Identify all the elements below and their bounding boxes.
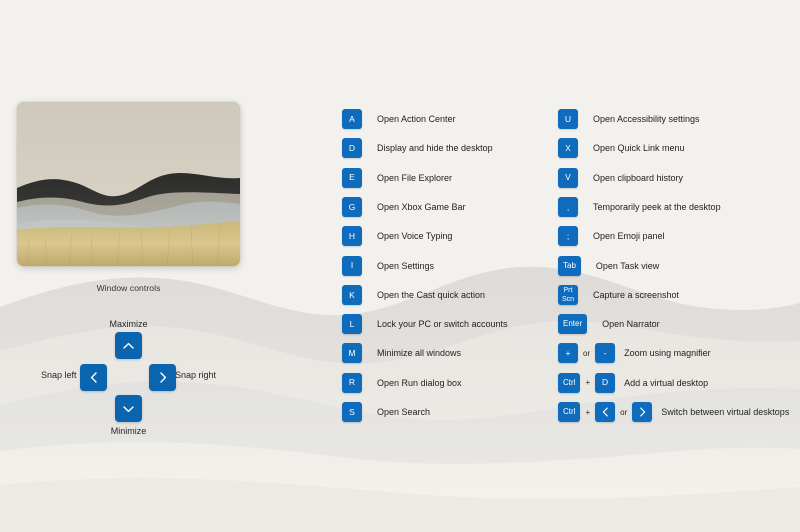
arrow-down-key[interactable] — [115, 395, 142, 422]
shortcut-description: Capture a screenshot — [578, 290, 679, 300]
print-screen-key[interactable]: PrtScn — [558, 285, 578, 305]
arrow-up-key[interactable] — [115, 332, 142, 359]
shortcut-description: Lock your PC or switch accounts — [362, 319, 508, 329]
shortcut-description: Display and hide the desktop — [362, 143, 493, 153]
key-ctrl[interactable]: Ctrl — [558, 402, 580, 422]
key-ctrl[interactable]: Ctrl — [558, 373, 580, 393]
arrow-right-key[interactable] — [149, 364, 176, 391]
shortcut-row: +or-Zoom using magnifier — [558, 343, 711, 363]
minimize-label: Minimize — [0, 426, 257, 436]
key-tab[interactable]: Tab — [558, 256, 581, 276]
shortcut-description: Open Emoji panel — [578, 231, 665, 241]
shortcut-row: AOpen Action Center — [342, 109, 456, 129]
key-minus[interactable]: - — [595, 343, 615, 363]
shortcut-row: GOpen Xbox Game Bar — [342, 197, 466, 217]
key-e[interactable]: E — [342, 168, 362, 188]
key-joiner-plus: + — [580, 378, 595, 387]
key-m[interactable]: M — [342, 343, 362, 363]
shortcut-row: DDisplay and hide the desktop — [342, 138, 493, 158]
key-h[interactable]: H — [342, 226, 362, 246]
chevron-right-icon — [159, 372, 167, 383]
shortcut-description: Switch between virtual desktops — [652, 407, 789, 417]
key-semicolon[interactable]: ; — [558, 226, 578, 246]
key-r[interactable]: R — [342, 373, 362, 393]
shortcut-description: Open Xbox Game Bar — [362, 202, 466, 212]
shortcut-description: Open clipboard history — [578, 173, 683, 183]
window-controls-diagram: Window controls Maximize Minimize — [0, 283, 257, 438]
shortcut-row: UOpen Accessibility settings — [558, 109, 700, 129]
shortcut-description: Open Action Center — [362, 114, 456, 124]
window-controls-title: Window controls — [0, 283, 257, 293]
chevron-down-icon — [123, 405, 134, 413]
key-joiner-plus: + — [580, 408, 595, 417]
shortcut-row: ,Temporarily peek at the desktop — [558, 197, 721, 217]
snap-left-label: Snap left — [41, 370, 77, 380]
shortcut-row: Ctrl+orSwitch between virtual desktops — [558, 402, 789, 422]
shortcut-reference-screen: Window controls Maximize Minimize Snap l… — [0, 0, 800, 532]
key-joiner-or: or — [615, 408, 632, 417]
key-enter[interactable]: Enter — [558, 314, 587, 334]
shortcut-description: Open Run dialog box — [362, 378, 462, 388]
shortcut-row: EOpen File Explorer — [342, 168, 452, 188]
key-d[interactable]: D — [342, 138, 362, 158]
wallpaper-preview-card[interactable] — [17, 102, 240, 266]
shortcut-description: Open Quick Link menu — [578, 143, 685, 153]
shortcut-row: ;Open Emoji panel — [558, 226, 665, 246]
shortcut-row: PrtScnCapture a screenshot — [558, 285, 679, 305]
shortcut-description: Open the Cast quick action — [362, 290, 485, 300]
key-x[interactable]: X — [558, 138, 578, 158]
key-joiner-or: or — [578, 349, 595, 358]
shortcut-row: MMinimize all windows — [342, 343, 461, 363]
shortcut-row: Ctrl+DAdd a virtual desktop — [558, 373, 708, 393]
chevron-left-key[interactable] — [595, 402, 615, 422]
shortcut-row: TabOpen Task view — [558, 256, 659, 276]
shortcut-description: Add a virtual desktop — [615, 378, 708, 388]
shortcut-description: Open Search — [362, 407, 430, 417]
shortcut-row: ROpen Run dialog box — [342, 373, 462, 393]
shortcut-row: IOpen Settings — [342, 256, 434, 276]
key-comma[interactable]: , — [558, 197, 578, 217]
chevron-up-icon — [123, 342, 134, 350]
arrow-left-key[interactable] — [80, 364, 107, 391]
shortcut-description: Open Narrator — [587, 319, 660, 329]
shortcut-row: KOpen the Cast quick action — [342, 285, 485, 305]
key-i[interactable]: I — [342, 256, 362, 276]
shortcut-description: Open File Explorer — [362, 173, 452, 183]
chevron-left-icon — [90, 372, 98, 383]
chevron-right-key[interactable] — [632, 402, 652, 422]
key-v[interactable]: V — [558, 168, 578, 188]
shortcut-row: EnterOpen Narrator — [558, 314, 660, 334]
shortcut-row: VOpen clipboard history — [558, 168, 683, 188]
shortcut-description: Minimize all windows — [362, 348, 461, 358]
key-g[interactable]: G — [342, 197, 362, 217]
shortcut-row: LLock your PC or switch accounts — [342, 314, 508, 334]
shortcut-row: XOpen Quick Link menu — [558, 138, 685, 158]
shortcut-description: Open Voice Typing — [362, 231, 452, 241]
maximize-label: Maximize — [0, 319, 257, 329]
shortcut-description: Open Task view — [581, 261, 659, 271]
shortcut-description: Open Settings — [362, 261, 434, 271]
key-a[interactable]: A — [342, 109, 362, 129]
shortcut-description: Temporarily peek at the desktop — [578, 202, 721, 212]
shortcut-description: Open Accessibility settings — [578, 114, 700, 124]
key-u[interactable]: U — [558, 109, 578, 129]
shortcut-description: Zoom using magnifier — [615, 348, 711, 358]
shortcut-row: SOpen Search — [342, 402, 430, 422]
key-k[interactable]: K — [342, 285, 362, 305]
snap-right-label: Snap right — [175, 370, 216, 380]
key-l[interactable]: L — [342, 314, 362, 334]
shortcut-row: HOpen Voice Typing — [342, 226, 452, 246]
key-d[interactable]: D — [595, 373, 615, 393]
key-s[interactable]: S — [342, 402, 362, 422]
key-plus[interactable]: + — [558, 343, 578, 363]
